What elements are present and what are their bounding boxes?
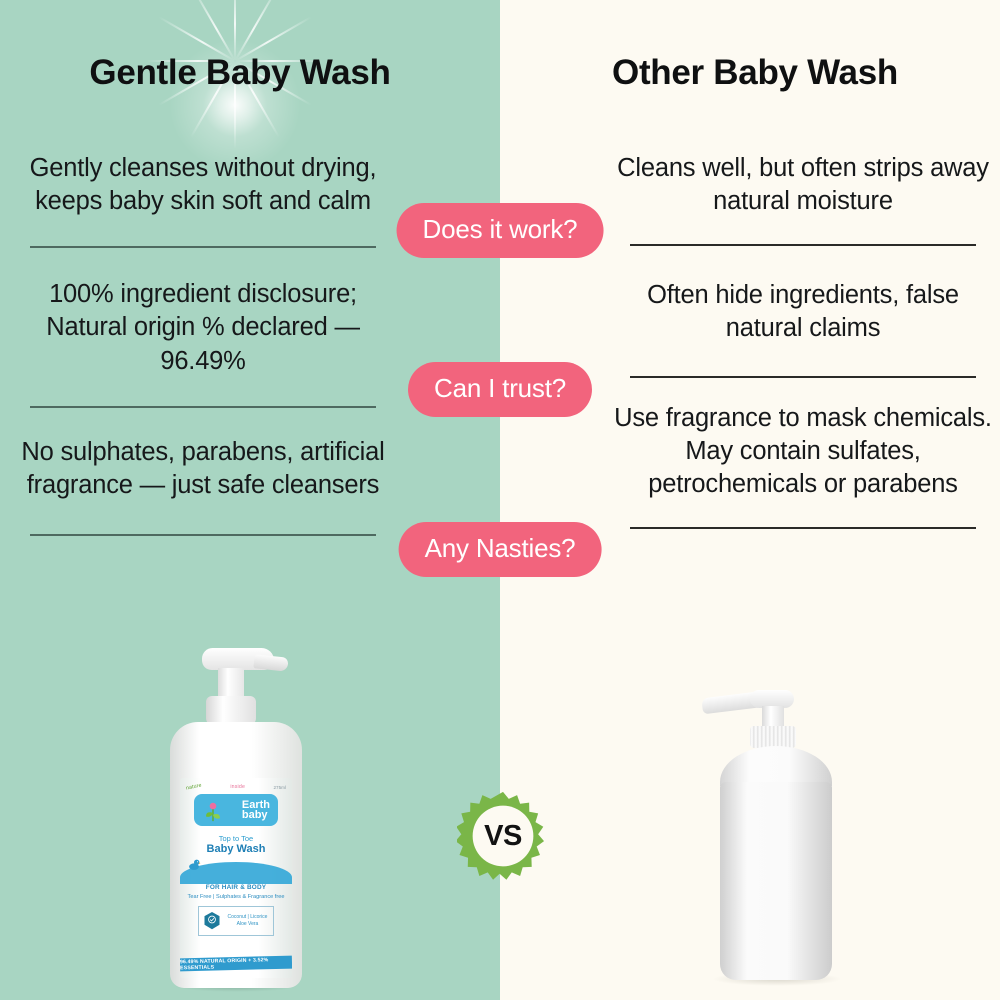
product-line-2: Baby Wash	[180, 843, 292, 855]
left-divider-2	[30, 406, 376, 408]
plain-bottle-collar	[750, 726, 796, 748]
label-top-line: nature inside 275ml	[186, 784, 286, 790]
bottle-label: nature inside 275ml Earth baby Top to To…	[180, 778, 292, 978]
criteria-badge-does-it-work: Does it work?	[397, 203, 604, 258]
right-row-3-text: Use fragrance to mask chemicals. May con…	[608, 402, 998, 501]
left-row-3-text: No sulphates, parabens, artificial fragr…	[8, 436, 398, 502]
left-column-title: Gentle Baby Wash	[0, 53, 490, 93]
ingredients-box: Coconut | Licorice Aloe Vera	[198, 906, 274, 936]
natural-origin-text: 96.49% NATURAL ORIGIN + 3.52% ESSENTIALS	[180, 956, 292, 971]
bottle-size: 275ml	[273, 785, 286, 790]
left-row-2-text: 100% ingredient disclosure; Natural orig…	[8, 278, 398, 377]
right-column-title: Other Baby Wash	[505, 53, 1000, 93]
duck-icon	[187, 858, 201, 871]
right-comparison-column: Cleans well, but often strips away natur…	[608, 150, 998, 529]
right-row-1-text: Cleans well, but often strips away natur…	[608, 152, 998, 218]
inside-text: inside	[230, 784, 245, 790]
left-comparison-column: Gently cleanses without drying, keeps ba…	[8, 150, 398, 536]
plain-bottle-body	[720, 782, 832, 980]
tear-free-text: Tear Free | Sulphates & Fragrance free	[180, 894, 292, 900]
left-divider-1	[30, 246, 376, 248]
product-line-1: Top to Toe	[180, 834, 292, 843]
nature-text: nature	[186, 782, 203, 791]
criteria-badge-can-i-trust: Can I trust?	[408, 362, 592, 417]
brand-name: Earth baby	[242, 800, 270, 821]
left-row-1-text: Gently cleanses without drying, keeps ba…	[8, 152, 398, 218]
natural-origin-banner: 96.49% NATURAL ORIGIN + 3.52% ESSENTIALS	[180, 956, 292, 972]
vs-label: VS	[457, 790, 549, 882]
brand-line-2: baby	[242, 810, 270, 820]
ingredients-line-1: Coconut | Licorice	[222, 914, 273, 921]
brand-logo: Earth baby	[194, 794, 278, 826]
gentle-baby-wash-bottle: nature inside 275ml Earth baby Top to To…	[162, 648, 310, 988]
right-divider-2	[630, 376, 976, 378]
left-divider-3	[30, 534, 376, 536]
leaf-flower-icon	[202, 801, 224, 823]
right-row-2-text: Often hide ingredients, false natural cl…	[608, 279, 998, 345]
right-divider-3	[630, 527, 976, 529]
other-baby-wash-bottle	[700, 672, 870, 992]
pump-stem	[218, 668, 244, 698]
for-hair-body-text: FOR HAIR & BODY	[180, 884, 292, 891]
plain-pump-stem	[762, 706, 784, 728]
right-divider-1	[630, 244, 976, 246]
plain-bottle-shoulder	[720, 746, 832, 786]
criteria-badge-any-nasties: Any Nasties?	[399, 522, 602, 577]
made-safe-seal-icon	[202, 910, 222, 932]
ingredients-text: Coconut | Licorice Aloe Vera	[222, 914, 273, 929]
vs-badge: VS	[457, 790, 549, 882]
ingredients-line-2: Aloe Vera	[222, 921, 273, 928]
